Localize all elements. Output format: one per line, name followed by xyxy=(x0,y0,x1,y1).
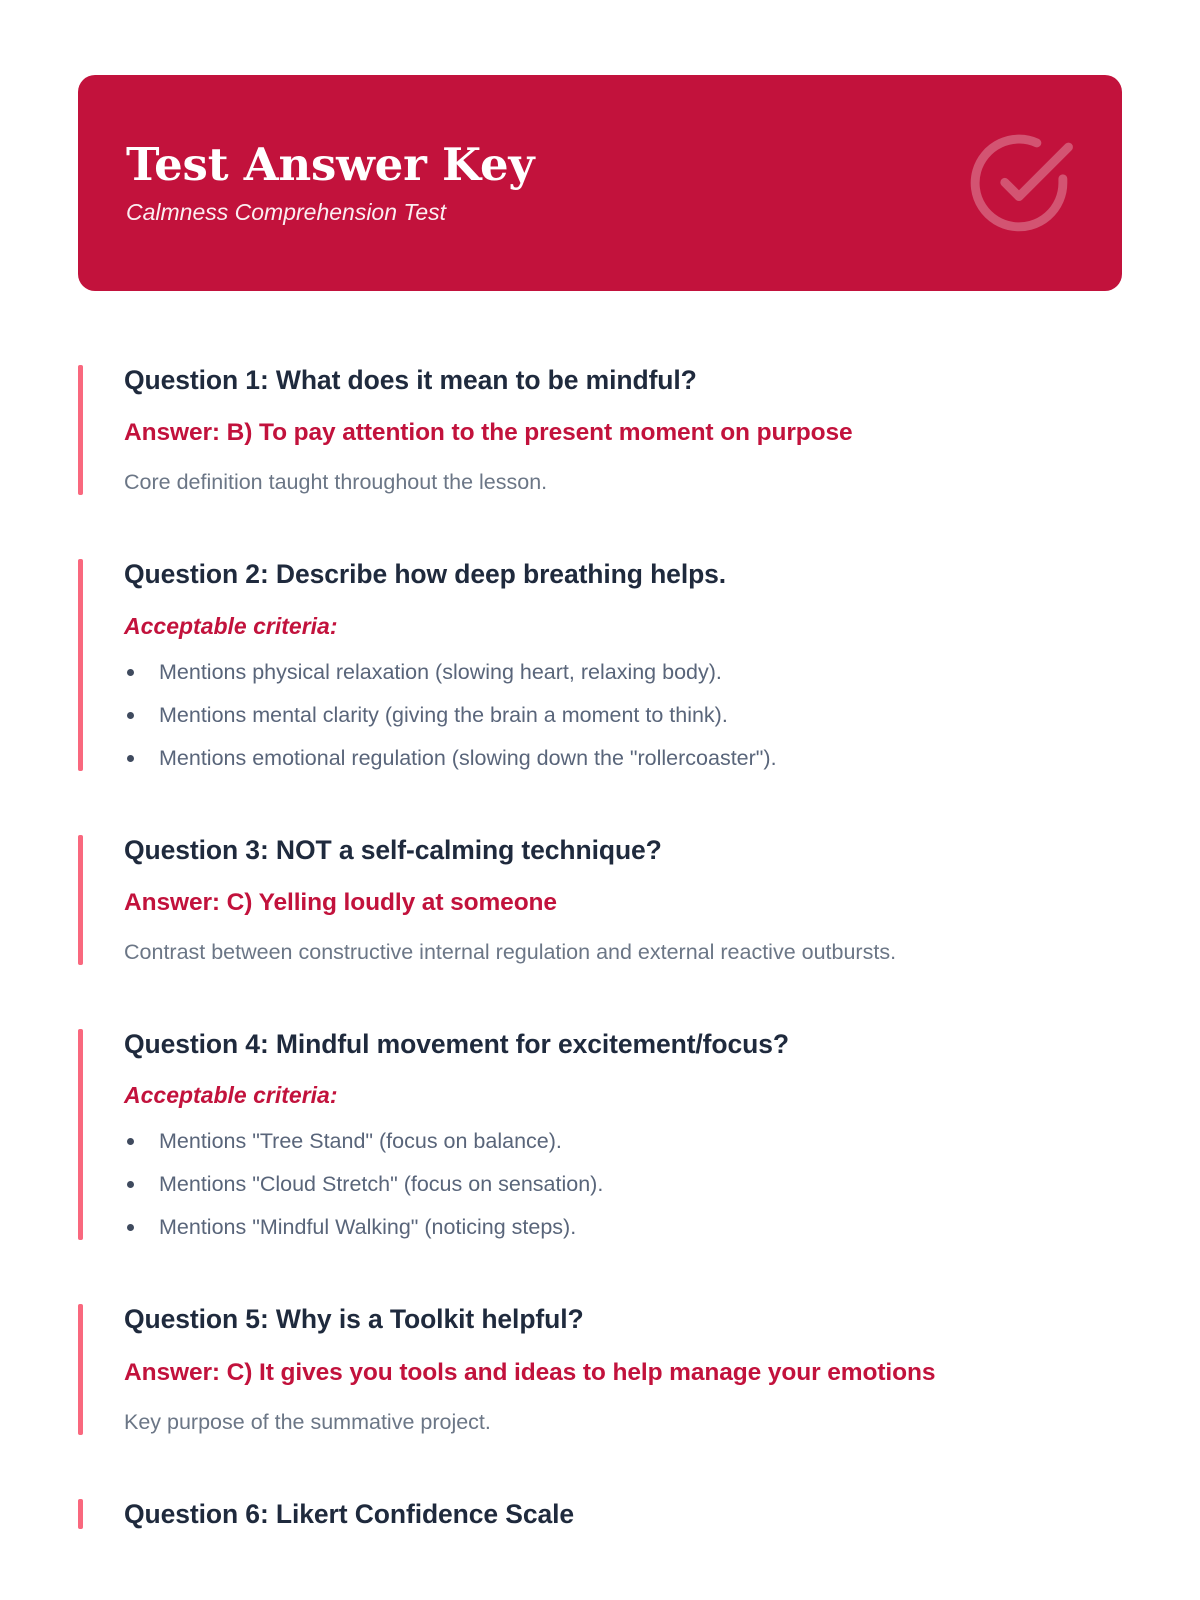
list-item-label: Mentions "Cloud Stretch" (focus on sensa… xyxy=(159,1172,603,1196)
question-accent-bar xyxy=(78,835,83,965)
acceptable-criteria-label: Acceptable criteria: xyxy=(124,612,1122,642)
list-item: Mentions mental clarity (giving the brai… xyxy=(124,701,1122,730)
bullet-dot-icon xyxy=(127,755,134,762)
bullet-dot-icon xyxy=(127,1138,134,1145)
list-item: Mentions "Tree Stand" (focus on balance)… xyxy=(124,1127,1122,1156)
question-accent-bar xyxy=(78,559,83,770)
page-subtitle: Calmness Comprehension Test xyxy=(126,199,1074,227)
question-title: Question 6: Likert Confidence Scale xyxy=(124,1497,1122,1531)
question-accent-bar xyxy=(78,1304,83,1434)
question-block: Question 3: NOT a self-calming technique… xyxy=(78,833,1122,967)
question-answer: Answer: B) To pay attention to the prese… xyxy=(124,417,1122,449)
answer-key-page: Test Answer Key Calmness Comprehension T… xyxy=(0,0,1200,1600)
question-block: Question 5: Why is a Toolkit helpful?Ans… xyxy=(78,1302,1122,1436)
question-title: Question 5: Why is a Toolkit helpful? xyxy=(124,1302,1122,1336)
list-item-label: Mentions physical relaxation (slowing he… xyxy=(159,660,722,684)
question-block: Question 4: Mindful movement for excitem… xyxy=(78,1027,1122,1242)
question-block: Question 6: Likert Confidence Scale xyxy=(78,1497,1122,1531)
list-item: Mentions emotional regulation (slowing d… xyxy=(124,744,1122,773)
criteria-list: Mentions "Tree Stand" (focus on balance)… xyxy=(124,1127,1122,1242)
question-accent-bar xyxy=(78,1499,83,1529)
question-block: Question 1: What does it mean to be mind… xyxy=(78,363,1122,497)
criteria-list: Mentions physical relaxation (slowing he… xyxy=(124,658,1122,773)
bullet-dot-icon xyxy=(127,1181,134,1188)
question-note: Key purpose of the summative project. xyxy=(124,1408,1122,1437)
question-title: Question 3: NOT a self-calming technique… xyxy=(124,833,1122,867)
bullet-dot-icon xyxy=(127,712,134,719)
question-title: Question 2: Describe how deep breathing … xyxy=(124,557,1122,591)
list-item-label: Mentions emotional regulation (slowing d… xyxy=(159,746,777,770)
questions-list: Question 1: What does it mean to be mind… xyxy=(78,363,1122,1531)
bullet-dot-icon xyxy=(127,1224,134,1231)
page-title: Test Answer Key xyxy=(126,140,1074,190)
question-accent-bar xyxy=(78,365,83,495)
header-card: Test Answer Key Calmness Comprehension T… xyxy=(78,75,1122,291)
question-accent-bar xyxy=(78,1029,83,1240)
question-note: Contrast between constructive internal r… xyxy=(124,938,1122,967)
question-title: Question 1: What does it mean to be mind… xyxy=(124,363,1122,397)
list-item-label: Mentions mental clarity (giving the brai… xyxy=(159,703,728,727)
acceptable-criteria-label: Acceptable criteria: xyxy=(124,1081,1122,1111)
list-item: Mentions physical relaxation (slowing he… xyxy=(124,658,1122,687)
question-answer: Answer: C) It gives you tools and ideas … xyxy=(124,1357,1122,1389)
question-answer: Answer: C) Yelling loudly at someone xyxy=(124,887,1122,919)
list-item: Mentions "Mindful Walking" (noticing ste… xyxy=(124,1213,1122,1242)
question-block: Question 2: Describe how deep breathing … xyxy=(78,557,1122,772)
question-title: Question 4: Mindful movement for excitem… xyxy=(124,1027,1122,1061)
list-item-label: Mentions "Tree Stand" (focus on balance)… xyxy=(159,1129,562,1153)
list-item: Mentions "Cloud Stretch" (focus on sensa… xyxy=(124,1170,1122,1199)
question-note: Core definition taught throughout the le… xyxy=(124,468,1122,497)
list-item-label: Mentions "Mindful Walking" (noticing ste… xyxy=(159,1215,576,1239)
bullet-dot-icon xyxy=(127,669,134,676)
